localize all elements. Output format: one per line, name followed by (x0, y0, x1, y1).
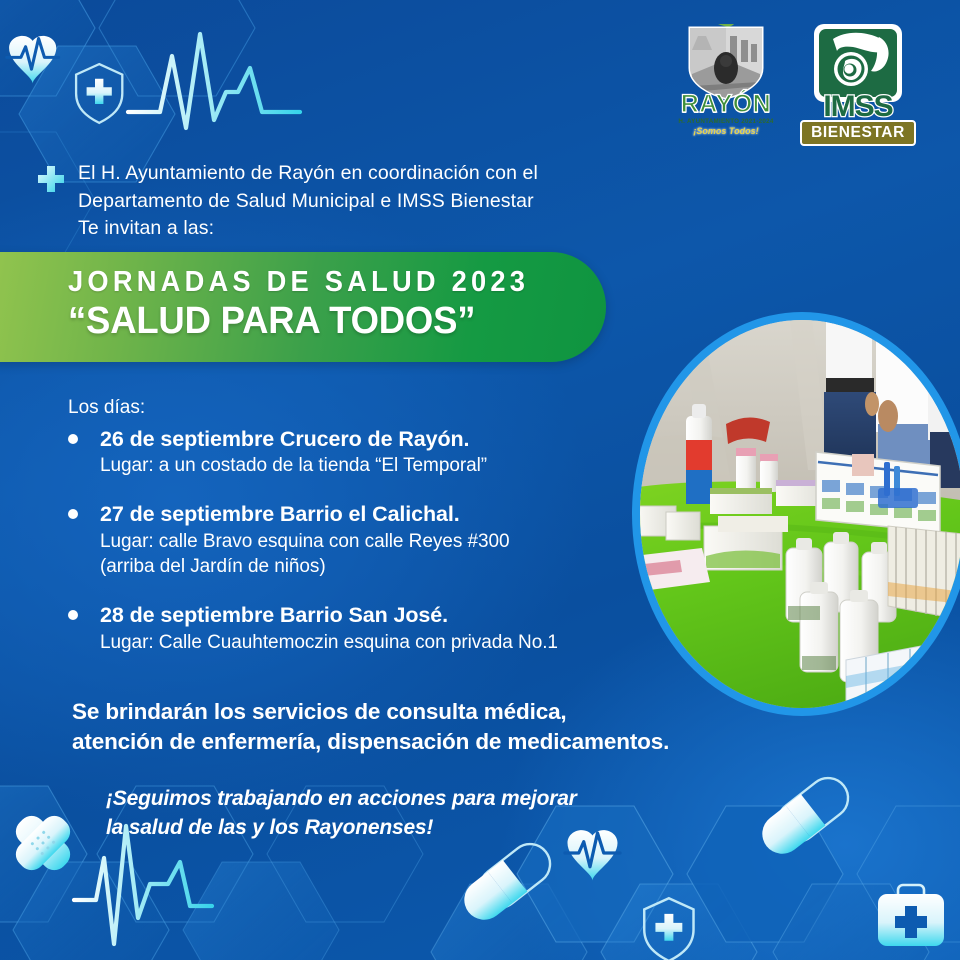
bandage-cross-icon (0, 799, 87, 887)
dates-lead-label: Los días: (68, 396, 628, 421)
rayon-coat-of-arms-icon (684, 24, 768, 100)
closing-slogan: ¡Seguimos trabajando en acciones para me… (106, 785, 646, 843)
intro-line-2: Departamento de Salud Municipal e IMSS B… (78, 188, 538, 216)
event-photo (632, 312, 960, 716)
campaign-title-line-2: “SALUD PARA TODOS” (68, 300, 584, 343)
health-campaign-poster: RAYÓN H. AYUNTAMIENTO 2021-2024 ¡Somos T… (0, 0, 960, 960)
bullet-icon (68, 610, 78, 620)
bullet-icon (68, 509, 78, 519)
campaign-title-banner: JORNADAS DE SALUD 2023 “SALUD PARA TODOS… (0, 252, 606, 362)
photo-image (640, 320, 960, 708)
pill-capsule-icon (754, 770, 856, 862)
intro-line-3: Te invitan a las: (78, 215, 538, 243)
date-place: Lugar: Calle Cuauhtemoczin esquina con p… (100, 630, 628, 655)
rayon-logo-slogan: ¡Somos Todos! (676, 126, 776, 136)
imss-bienestar-label: BIENESTAR (800, 120, 916, 146)
list-item: 27 de septiembre Barrio el Calichal. Lug… (68, 500, 628, 579)
date-place: Lugar: a un costado de la tienda “El Tem… (100, 453, 628, 478)
ecg-line-icon (128, 34, 300, 128)
pill-capsule-icon (456, 836, 558, 928)
heart-pulse-icon (7, 36, 59, 84)
list-item: 26 de septiembre Crucero de Rayón. Lugar… (68, 425, 628, 479)
medical-cross-icon (36, 164, 66, 194)
rayon-logo-name: RAYÓN (676, 92, 776, 117)
date-place-extra: (arriba del Jardín de niños) (100, 554, 628, 579)
bullet-icon (68, 434, 78, 444)
shield-cross-icon (644, 898, 693, 960)
ecg-line-icon (74, 826, 212, 944)
date-title: 28 de septiembre Barrio San José. (100, 601, 628, 629)
dates-list: Los días: 26 de septiembre Crucero de Ra… (68, 396, 628, 677)
logo-row: RAYÓN H. AYUNTAMIENTO 2021-2024 ¡Somos T… (676, 24, 926, 152)
slogan-line-1: ¡Seguimos trabajando en acciones para me… (106, 785, 646, 814)
intro-line-1: El H. Ayuntamiento de Rayón en coordinac… (78, 160, 538, 188)
medicine-table-illustration (640, 320, 960, 708)
rayon-municipality-logo: RAYÓN H. AYUNTAMIENTO 2021-2024 ¡Somos T… (676, 24, 776, 152)
intro-block: El H. Ayuntamiento de Rayón en coordinac… (36, 160, 656, 243)
date-title: 26 de septiembre Crucero de Rayón. (100, 425, 628, 453)
campaign-title-line-1: JORNADAS DE SALUD 2023 (68, 266, 574, 298)
list-item: 28 de septiembre Barrio San José. Lugar:… (68, 601, 628, 655)
rayon-logo-subtitle: H. AYUNTAMIENTO 2021-2024 (676, 118, 776, 125)
slogan-line-2: la salud de las y los Rayonenses! (106, 814, 646, 843)
shield-cross-icon (76, 64, 122, 123)
date-title: 27 de septiembre Barrio el Calichal. (100, 500, 628, 528)
first-aid-kit-icon (878, 885, 944, 946)
date-place: Lugar: calle Bravo esquina con calle Rey… (100, 529, 628, 554)
imss-bienestar-logo: IMSS BIENESTAR (800, 24, 916, 146)
services-line-2: atención de enfermería, dispensación de … (72, 727, 812, 757)
imss-logo-name: IMSS (800, 90, 916, 124)
